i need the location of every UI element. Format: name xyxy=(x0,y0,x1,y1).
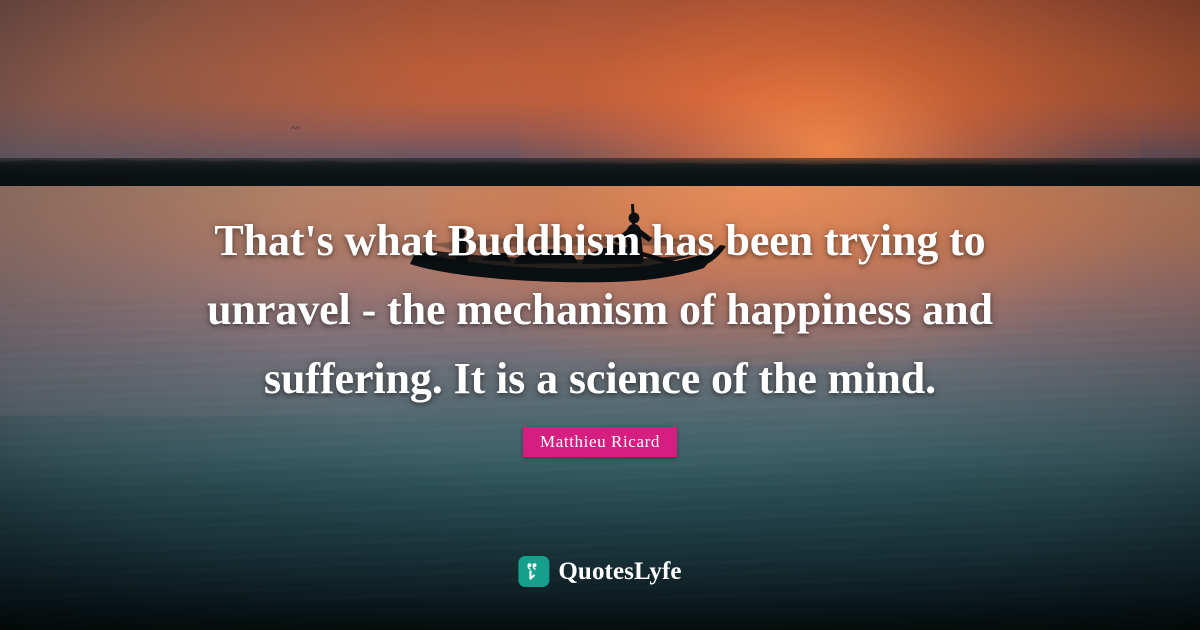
quote-poster: That's what Buddhism has been trying to … xyxy=(0,0,1200,630)
quote-mark-icon xyxy=(518,556,549,587)
brand-name: QuotesLyfe xyxy=(558,559,681,584)
brand-logo[interactable]: QuotesLyfe xyxy=(518,556,681,587)
quote-line-3: suffering. It is a science of the mind. xyxy=(0,344,1200,413)
quote-text: That's what Buddhism has been trying to … xyxy=(0,206,1200,413)
author-badge[interactable]: Matthieu Ricard xyxy=(523,427,677,457)
quote-line-1: That's what Buddhism has been trying to xyxy=(0,206,1200,275)
quote-line-2: unravel - the mechanism of happiness and xyxy=(0,275,1200,344)
